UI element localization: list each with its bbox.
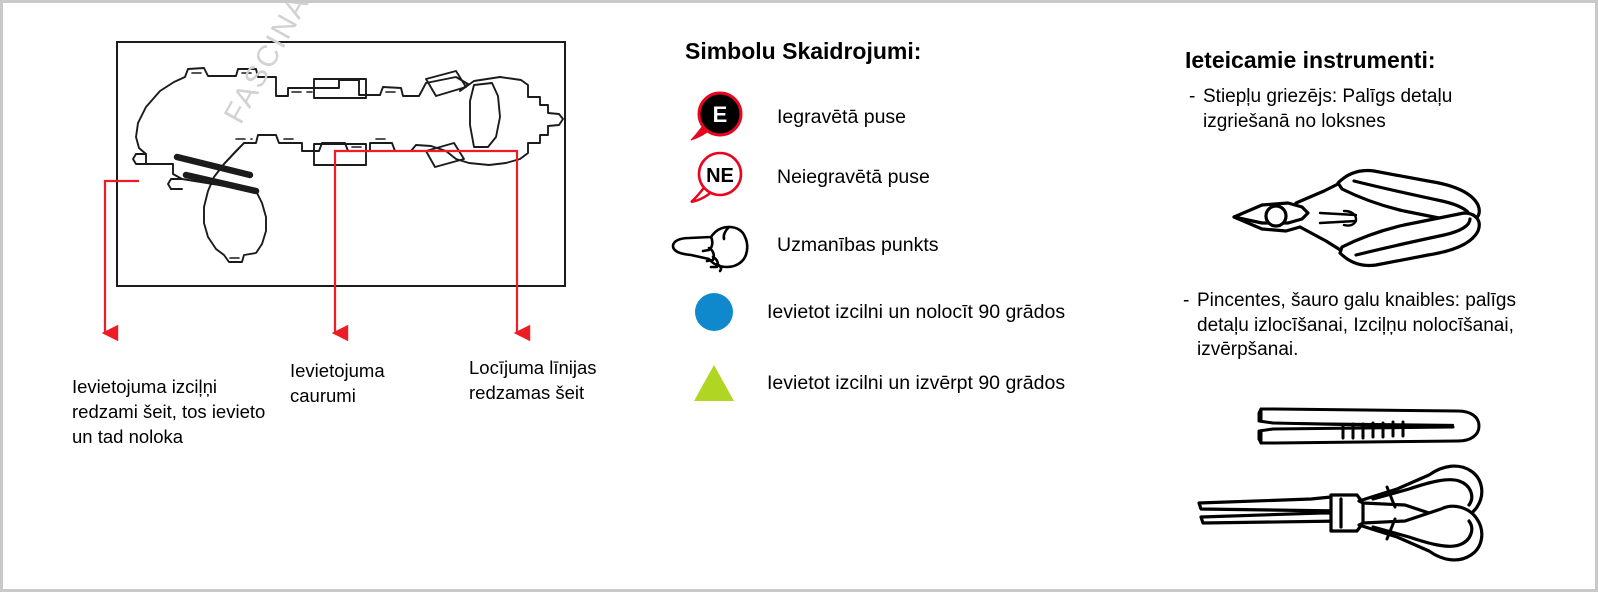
legend-item-fold-90: Ievietot izcilni un nolocīt 90 grādos bbox=[689, 292, 1065, 332]
blue-circle-icon bbox=[689, 292, 751, 332]
tool-description-wire-cutters: - Stiepļu griezējs: Palīgs detaļu izgrie… bbox=[1189, 85, 1519, 134]
non-engraved-badge-text: NE bbox=[706, 165, 734, 187]
recommended-tools-panel: Ieteicamie instrumenti: - Stiepļu griezē… bbox=[1173, 3, 1598, 592]
tool-description-pliers-tweezers: - Pincentes, šauro galu knaibles: palīgs… bbox=[1183, 289, 1528, 363]
tool-bullet-1: - bbox=[1183, 289, 1189, 314]
non-engraved-side-badge-icon: NE bbox=[689, 149, 751, 205]
instruction-sheet: FASCINATIONS Ievietojuma izciļņi redzami… bbox=[0, 0, 1598, 592]
green-triangle-icon bbox=[689, 363, 751, 403]
legend-item-attention-point: Uzmanības punkts bbox=[667, 217, 939, 273]
tweezers-illustration: 􀀀 bbox=[1203, 393, 1493, 463]
leader-line-1 bbox=[335, 151, 511, 333]
legend-item-non-engraved-side: NE Neiegravētā puse bbox=[689, 149, 930, 205]
engraved-side-badge-icon: E bbox=[689, 89, 751, 145]
symbol-legend-panel: Simbolu Skaidrojumi: E Iegravētā puse NE bbox=[663, 3, 1173, 592]
legend-label-non-engraved-side: Neiegravētā puse bbox=[777, 166, 930, 189]
callout-leader-lines bbox=[3, 3, 663, 363]
legend-item-engraved-side: E Iegravētā puse bbox=[689, 89, 906, 145]
pointing-hand-icon bbox=[667, 217, 753, 273]
leader-line-2 bbox=[511, 151, 517, 333]
leader-line-0 bbox=[105, 181, 139, 333]
legend-label-twist-90: Ievietot izcilni un izvērpt 90 grādos bbox=[767, 372, 1065, 395]
tool-body-0: Stiepļu griezējs: Palīgs detaļu izgrieša… bbox=[1203, 85, 1519, 134]
engraved-badge-text: E bbox=[713, 102, 728, 127]
tools-heading: Ieteicamie instrumenti: bbox=[1185, 47, 1436, 74]
needle-nose-pliers-illustration bbox=[1191, 455, 1511, 570]
tool-body-1: Pincentes, šauro galu knaibles: palīgs d… bbox=[1197, 289, 1528, 363]
legend-label-attention-point: Uzmanības punkts bbox=[777, 234, 939, 257]
legend-label-engraved-side: Iegravētā puse bbox=[777, 106, 906, 129]
callout-fold-lines: Locījuma līnijas redzamas šeit bbox=[469, 355, 659, 405]
callout-insert-holes: Ievietojuma caurumi bbox=[290, 358, 450, 408]
tool-bullet-0: - bbox=[1189, 85, 1195, 110]
legend-label-fold-90: Ievietot izcilni un nolocīt 90 grādos bbox=[767, 301, 1065, 324]
callout-punch-tabs: Ievietojuma izciļņi redzami šeit, tos ie… bbox=[72, 374, 272, 449]
legend-heading: Simbolu Skaidrojumi: bbox=[685, 38, 921, 65]
wire-cutters-illustration bbox=[1228, 161, 1488, 276]
legend-item-twist-90: Ievietot izcilni un izvērpt 90 grādos bbox=[689, 363, 1065, 403]
part-diagram-panel: FASCINATIONS Ievietojuma izciļņi redzami… bbox=[3, 3, 663, 592]
